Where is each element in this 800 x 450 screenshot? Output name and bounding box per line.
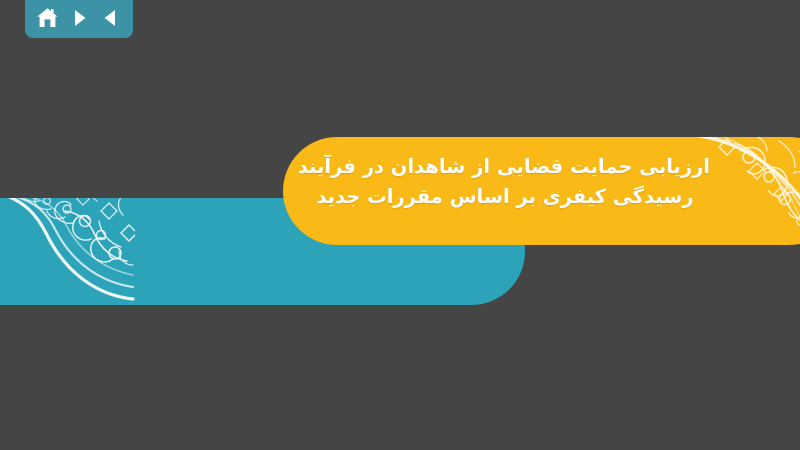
- arabesque-ornament-icon: [0, 198, 135, 305]
- previous-slide-button[interactable]: [98, 5, 124, 31]
- next-slide-button[interactable]: [66, 5, 92, 31]
- slide-title-line-2: رسیدگی کیفری بر اساس مقررات جدید: [300, 182, 710, 212]
- slide-title: ارزیابی حمایت قضایی از شاهدان در فرآیند …: [300, 152, 710, 212]
- triangle-right-icon: [69, 8, 89, 28]
- home-icon: [36, 7, 59, 29]
- presentation-slide: ارزیابی حمایت قضایی از شاهدان در فرآیند …: [0, 0, 800, 450]
- home-button[interactable]: [34, 5, 60, 31]
- slide-title-line-1: ارزیابی حمایت قضایی از شاهدان در فرآیند: [300, 152, 710, 182]
- slide-navigation-bar: [25, 0, 133, 38]
- triangle-left-icon: [101, 8, 121, 28]
